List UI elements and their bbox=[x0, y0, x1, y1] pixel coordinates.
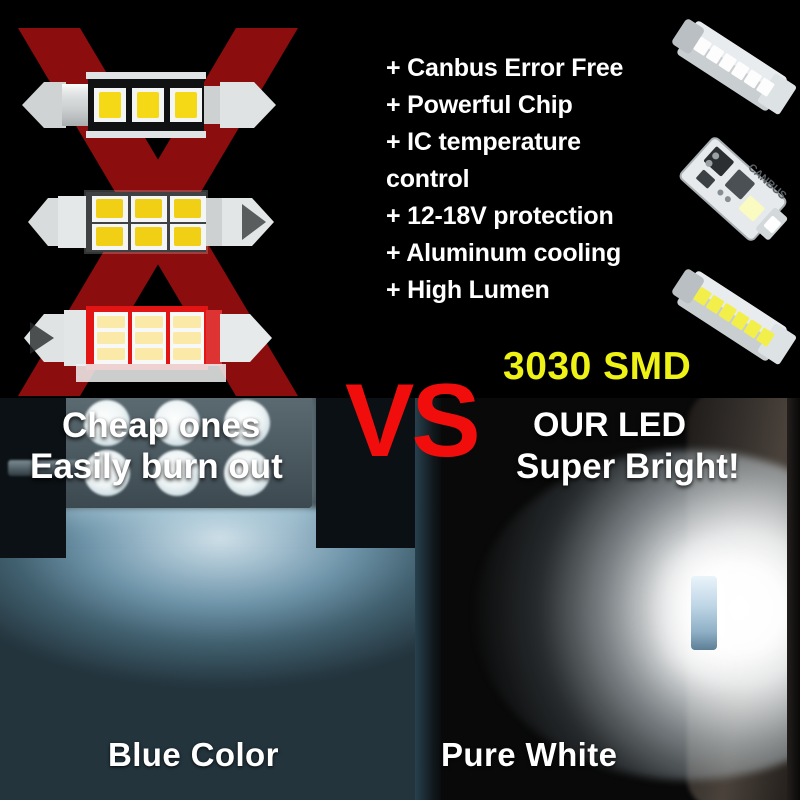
white-light-glow bbox=[473, 450, 800, 780]
cheap-bulb-2 bbox=[28, 178, 276, 266]
blue-bulb-base bbox=[8, 460, 80, 476]
blue-left-shadow bbox=[0, 398, 66, 558]
photo-blue-color: Blue Color bbox=[0, 398, 415, 800]
product-t10-canbus: CANBUS bbox=[668, 124, 798, 259]
white-photo-right-edge bbox=[787, 398, 800, 800]
feature-item: + High Lumen bbox=[386, 272, 686, 309]
bottom-photo-panel: Blue Color Pure White bbox=[0, 398, 800, 800]
feature-item: + 12-18V protection bbox=[386, 198, 686, 235]
blue-right-shadow bbox=[316, 398, 415, 548]
feature-item: + IC temperature bbox=[386, 124, 686, 161]
feature-item-continuation: control bbox=[386, 161, 686, 198]
white-led-bulb bbox=[691, 576, 717, 650]
product-festoon-top bbox=[666, 2, 798, 135]
caption-blue-color: Blue Color bbox=[108, 736, 279, 774]
caption-pure-white: Pure White bbox=[441, 736, 617, 774]
feature-item: + Powerful Chip bbox=[386, 87, 686, 124]
photo-pure-white: Pure White bbox=[415, 398, 800, 800]
feature-item: + Canbus Error Free bbox=[386, 50, 686, 87]
cheap-bulb-1 bbox=[22, 62, 278, 148]
product-comparison-banner: + Canbus Error Free + Powerful Chip + IC… bbox=[0, 0, 800, 800]
feature-item: + Aluminum cooling bbox=[386, 235, 686, 272]
feature-list: + Canbus Error Free + Powerful Chip + IC… bbox=[386, 50, 686, 309]
top-comparison-panel: + Canbus Error Free + Powerful Chip + IC… bbox=[0, 0, 800, 400]
white-photo-left-edge bbox=[415, 398, 441, 800]
smd-type-label: 3030 SMD bbox=[503, 345, 691, 389]
cheap-bulb-3 bbox=[24, 292, 274, 384]
blue-led-board bbox=[62, 398, 312, 508]
